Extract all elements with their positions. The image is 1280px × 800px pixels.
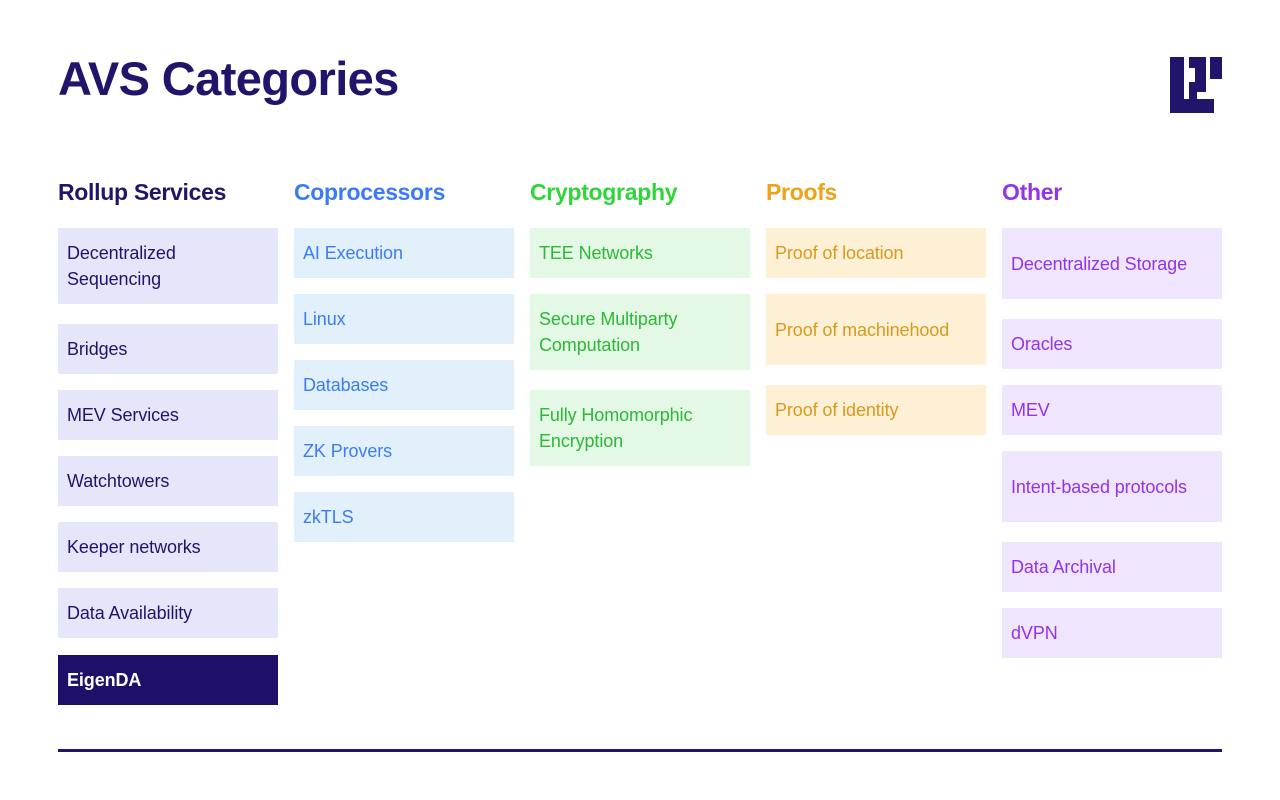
- chip-label: TEE Networks: [539, 240, 653, 266]
- chip-label: Proof of location: [775, 240, 903, 266]
- chip-bridges[interactable]: Bridges: [58, 324, 278, 374]
- chip-label: Decentralized Storage: [1011, 251, 1187, 277]
- chip-ai-execution[interactable]: AI Execution: [294, 228, 514, 278]
- chip-list-rollup-services: Decentralized Sequencing Bridges MEV Ser…: [58, 228, 278, 705]
- column-header-rollup-services: Rollup Services: [58, 178, 278, 206]
- chip-label: Linux: [303, 306, 346, 332]
- eigenlayer-logo-icon: [1170, 57, 1222, 113]
- chip-dvpn[interactable]: dVPN: [1002, 608, 1222, 658]
- chip-intent-based-protocols[interactable]: Intent-based protocols: [1002, 451, 1222, 522]
- chip-label: Bridges: [67, 336, 127, 362]
- chip-databases[interactable]: Databases: [294, 360, 514, 410]
- chip-zk-provers[interactable]: ZK Provers: [294, 426, 514, 476]
- chip-label: AI Execution: [303, 240, 403, 266]
- chip-keeper-networks[interactable]: Keeper networks: [58, 522, 278, 572]
- chip-decentralized-storage[interactable]: Decentralized Storage: [1002, 228, 1222, 299]
- chip-decentralized-sequencing[interactable]: Decentralized Sequencing: [58, 228, 278, 304]
- column-header-proofs: Proofs: [766, 178, 986, 206]
- chip-label: Proof of machinehood: [775, 317, 949, 343]
- chip-label: Data Availability: [67, 600, 192, 626]
- category-columns: Rollup Services Decentralized Sequencing…: [58, 178, 1222, 705]
- column-cryptography: Cryptography TEE Networks Secure Multipa…: [530, 178, 750, 466]
- chip-label: Fully Homomorphic Encryption: [539, 402, 740, 454]
- chip-data-archival[interactable]: Data Archival: [1002, 542, 1222, 592]
- chip-list-coprocessors: AI Execution Linux Databases ZK Provers …: [294, 228, 514, 542]
- chip-label: Secure Multiparty Computation: [539, 306, 740, 358]
- chip-data-availability[interactable]: Data Availability: [58, 588, 278, 638]
- chip-label: Databases: [303, 372, 388, 398]
- chip-eigenda[interactable]: EigenDA: [58, 655, 278, 705]
- column-other: Other Decentralized Storage Oracles MEV …: [1002, 178, 1222, 658]
- chip-label: Watchtowers: [67, 468, 169, 494]
- column-rollup-services: Rollup Services Decentralized Sequencing…: [58, 178, 278, 705]
- chip-secure-multiparty-computation[interactable]: Secure Multiparty Computation: [530, 294, 750, 370]
- chip-label: Decentralized Sequencing: [67, 240, 268, 292]
- column-proofs: Proofs Proof of location Proof of machin…: [766, 178, 986, 435]
- chip-fully-homomorphic-encryption[interactable]: Fully Homomorphic Encryption: [530, 390, 750, 466]
- footer-rule: [58, 749, 1222, 752]
- chip-label: Keeper networks: [67, 534, 201, 560]
- chip-list-other: Decentralized Storage Oracles MEV Intent…: [1002, 228, 1222, 658]
- chip-label: Intent-based protocols: [1011, 474, 1187, 500]
- chip-oracles[interactable]: Oracles: [1002, 319, 1222, 369]
- chip-proof-of-location[interactable]: Proof of location: [766, 228, 986, 278]
- column-header-coprocessors: Coprocessors: [294, 178, 514, 206]
- column-coprocessors: Coprocessors AI Execution Linux Database…: [294, 178, 514, 542]
- chip-zktls[interactable]: zkTLS: [294, 492, 514, 542]
- slide: AVS Categories Rollup Services: [0, 0, 1280, 800]
- chip-label: zkTLS: [303, 504, 354, 530]
- page-title: AVS Categories: [58, 48, 399, 110]
- chip-mev-services[interactable]: MEV Services: [58, 390, 278, 440]
- chip-label: EigenDA: [67, 667, 141, 693]
- chip-label: ZK Provers: [303, 438, 392, 464]
- column-header-cryptography: Cryptography: [530, 178, 750, 206]
- chip-linux[interactable]: Linux: [294, 294, 514, 344]
- chip-label: MEV: [1011, 397, 1050, 423]
- chip-watchtowers[interactable]: Watchtowers: [58, 456, 278, 506]
- slide-header: AVS Categories: [58, 48, 1222, 120]
- chip-label: MEV Services: [67, 402, 179, 428]
- chip-label: Data Archival: [1011, 554, 1116, 580]
- chip-proof-of-machinehood[interactable]: Proof of machinehood: [766, 294, 986, 365]
- chip-label: Proof of identity: [775, 397, 898, 423]
- chip-list-proofs: Proof of location Proof of machinehood P…: [766, 228, 986, 435]
- chip-list-cryptography: TEE Networks Secure Multiparty Computati…: [530, 228, 750, 466]
- chip-proof-of-identity[interactable]: Proof of identity: [766, 385, 986, 435]
- column-header-other: Other: [1002, 178, 1222, 206]
- chip-label: dVPN: [1011, 620, 1058, 646]
- chip-label: Oracles: [1011, 331, 1072, 357]
- chip-mev[interactable]: MEV: [1002, 385, 1222, 435]
- chip-tee-networks[interactable]: TEE Networks: [530, 228, 750, 278]
